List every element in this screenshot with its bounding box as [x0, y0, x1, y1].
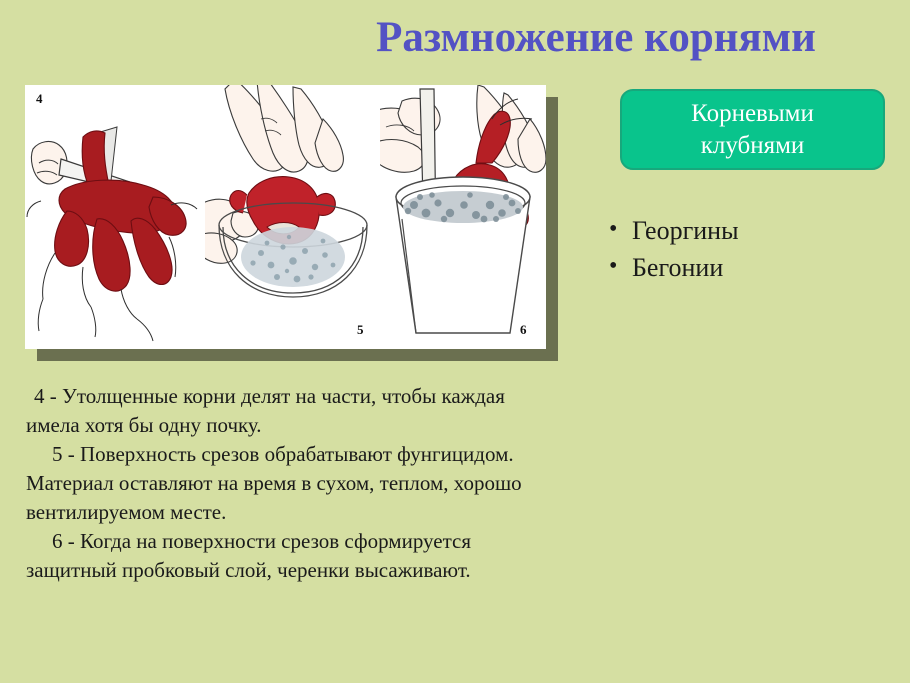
body-paragraph-3: 6 - Когда на поверхности срезов сформиру… — [26, 527, 556, 585]
illustration-panel-5: 5 — [205, 85, 380, 349]
illustration-block: 4 — [25, 85, 558, 361]
body-paragraph-2: 5 - Поверхность срезов обрабатывают фунг… — [26, 440, 556, 527]
illustration-panel-4: 4 — [25, 85, 205, 349]
list-item: Георгины — [600, 212, 900, 249]
body-text: 4 - Утолщенные корни делят на части, что… — [26, 382, 556, 585]
panel-number-5: 5 — [357, 322, 364, 338]
potting-drawing — [380, 85, 546, 349]
plant-list: Георгины Бегонии — [600, 212, 900, 286]
body-paragraph-1: 4 - Утолщенные корни делят на части, что… — [26, 382, 556, 440]
page-title: Размножение корнями — [300, 13, 892, 63]
illustration-panel-6: 6 — [380, 85, 546, 349]
status-badge: Корневыми клубнями — [620, 89, 885, 170]
slide-canvas: Размножение корнями 4 — [0, 0, 910, 683]
label-box-text: Корневыми клубнями — [691, 98, 814, 162]
list-item: Бегонии — [600, 249, 900, 286]
tuber-cutting-drawing — [25, 85, 205, 349]
illustration-image: 4 — [25, 85, 546, 349]
panel-number-4: 4 — [36, 91, 43, 107]
fungicide-dipping-drawing — [205, 85, 380, 349]
panel-number-6: 6 — [520, 322, 527, 338]
